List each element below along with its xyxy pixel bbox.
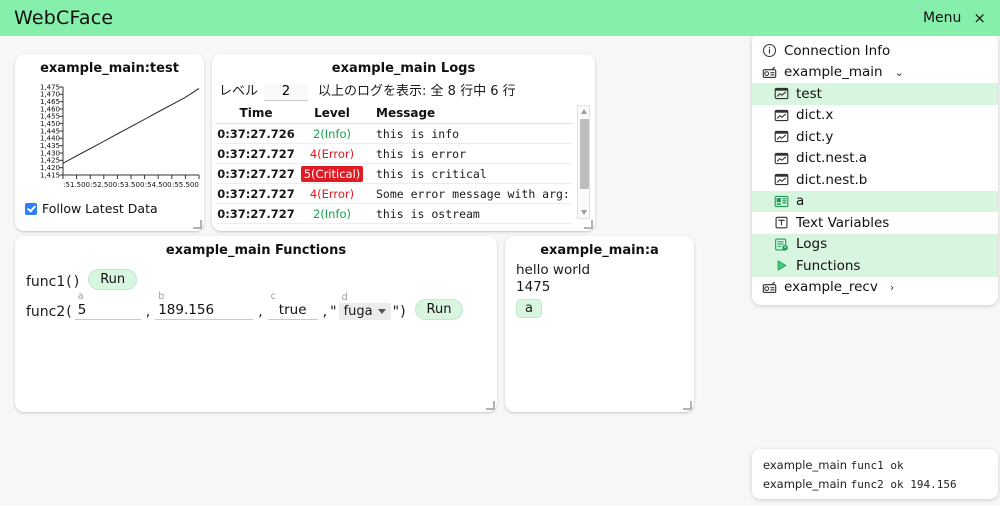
func2-arg-a: a [75, 302, 141, 320]
logs-filter-row: レベル 以上のログを表示: 全 8 行中 6 行 [212, 79, 595, 105]
func2-quote-open: " [330, 304, 336, 320]
svg-text::54.500: :54.500 [145, 181, 172, 189]
log-level-badge: 4(Error) [310, 147, 354, 161]
value-text: hello world [505, 261, 694, 278]
func2-arg-b-input[interactable] [155, 302, 253, 320]
svg-text::55.500: :55.500 [172, 181, 199, 189]
text-icon [774, 215, 789, 230]
sidebar-item-logs[interactable]: Logs [752, 234, 998, 256]
func2-arg-a-input[interactable] [75, 302, 141, 320]
function-row-func1: func1 ( ) Run [15, 269, 497, 290]
logs-icon [774, 237, 789, 252]
svg-text::52.500: :52.500 [90, 181, 117, 189]
func2-arg-b-label: b [158, 291, 164, 302]
sidebar-item-test[interactable]: test [752, 83, 998, 105]
func2-arg-d-label: d [342, 292, 348, 303]
logs-table-row: 0:37:27.7272(Info)this is ostream [215, 204, 572, 224]
sidebar-item-label: Logs [796, 236, 827, 252]
close-icon[interactable]: × [973, 11, 986, 26]
chevron-right-icon[interactable]: › [890, 281, 894, 294]
toast-message: example_main func2 ok 194.156 [763, 475, 987, 494]
follow-latest-data-label: Follow Latest Data [42, 201, 158, 216]
series-test-line [63, 89, 199, 164]
func2-comma-1: , [143, 304, 153, 320]
sidebar-item-dict-nest-b[interactable]: dict.nest.b [752, 169, 998, 191]
func2-close-paren: ) [399, 304, 406, 320]
func2-run-button[interactable]: Run [415, 299, 464, 320]
func2-arg-c: c [268, 302, 318, 320]
sidebar-item-label: example_main [784, 64, 883, 80]
logs-panel-title: example_main Logs [212, 54, 595, 79]
sidebar-item-example-main[interactable]: example_main⌄ [752, 62, 998, 84]
sidebar-item-functions[interactable]: Functions [752, 255, 998, 277]
logs-column-header: Time [215, 105, 297, 124]
log-message: this is critical [376, 167, 487, 181]
chart-icon [774, 108, 789, 123]
log-level-label: レベル [219, 80, 258, 99]
log-level-badge: 2(Info) [313, 207, 351, 221]
log-message: this is info [376, 127, 459, 141]
func2-comma-2: , [255, 304, 265, 320]
sidebar-item-dict-x[interactable]: dict.x [752, 105, 998, 127]
value-badge[interactable]: a [516, 299, 542, 318]
logs-table-body: 0:37:27.7262(Info)this is info0:37:27.72… [215, 124, 572, 224]
sidebar-item-label: dict.x [796, 107, 833, 123]
logs-table: TimeLevelMessage 0:37:27.7262(Info)this … [215, 105, 572, 224]
logs-table-header: TimeLevelMessage [215, 105, 572, 124]
func1-close-paren: ) [73, 274, 80, 290]
toast-body: func2 ok 194.156 [851, 478, 957, 491]
sidebar: Connection Infoexample_main⌄testdict.xdi… [752, 33, 998, 305]
value-number: 1475 [505, 278, 694, 295]
sidebar-item-dict-y[interactable]: dict.y [752, 126, 998, 148]
toast-message: example_main func1 ok [763, 456, 987, 475]
func2-arg-c-input[interactable] [268, 302, 318, 320]
chart-icon [774, 172, 789, 187]
server-icon [762, 65, 777, 80]
sidebar-item-label: dict.nest.b [796, 172, 867, 188]
sidebar-item-label: dict.nest.a [796, 150, 867, 166]
x-axis-ticks: :51.500:52.500:53.500:54.500:55.500 [63, 175, 199, 189]
toast-body: func1 ok [851, 459, 904, 472]
func2-arg-a-label: a [78, 291, 84, 302]
sidebar-item-a[interactable]: a [752, 191, 998, 213]
chevron-down-icon [378, 309, 386, 314]
sidebar-item-example-recv[interactable]: example_recv› [752, 277, 998, 299]
sidebar-item-label: a [796, 193, 804, 209]
logs-table-row: 0:37:27.7274(Error)Some error message wi… [215, 184, 572, 204]
log-message: this is ostream [376, 207, 480, 221]
sidebar-item-dict-nest-a[interactable]: dict.nest.a [752, 148, 998, 170]
log-level-badge: 2(Info) [313, 127, 351, 141]
log-time: 0:37:27.727 [217, 207, 295, 221]
chart-icon [774, 129, 789, 144]
func1-open-paren: ( [65, 274, 72, 290]
scroll-up-icon[interactable] [581, 109, 587, 114]
log-message: Some error message with arg: 1 [376, 187, 584, 201]
log-time: 0:37:27.727 [217, 187, 295, 201]
logs-panel-resize-handle[interactable] [584, 220, 593, 229]
logs-table-row: 0:37:27.7262(Info)this is info [215, 124, 572, 144]
functions-panel: example_main Functions func1 ( ) Run fun… [15, 236, 497, 412]
chevron-down-icon[interactable]: ⌄ [895, 66, 904, 79]
line-chart-svg: 1,4751,4701,4651,4601,4551,4501,4451,440… [15, 79, 204, 197]
sidebar-item-label: test [796, 86, 822, 102]
chart-panel-title: example_main:test [15, 54, 204, 79]
chart-plot-area[interactable]: 1,4751,4701,4651,4601,4551,4501,4451,440… [15, 79, 204, 199]
logs-scrollbar-thumb[interactable] [580, 119, 589, 189]
follow-latest-data-checkbox[interactable] [25, 203, 37, 215]
view-icon [774, 194, 789, 209]
sidebar-item-label: Functions [796, 258, 860, 274]
sidebar-item-label: Connection Info [784, 43, 890, 59]
logs-table-container: TimeLevelMessage 0:37:27.7262(Info)this … [212, 105, 595, 224]
server-icon [762, 280, 777, 295]
scroll-down-icon[interactable] [581, 210, 587, 215]
sidebar-item-label: Text Variables [796, 215, 889, 231]
sidebar-item-connection-info[interactable]: Connection Info [752, 40, 998, 62]
chart-icon [774, 151, 789, 166]
follow-latest-data-row[interactable]: Follow Latest Data [15, 199, 204, 216]
log-time: 0:37:27.726 [217, 127, 295, 141]
functions-panel-title: example_main Functions [15, 236, 497, 261]
sidebar-item-text-variables[interactable]: Text Variables [752, 212, 998, 234]
header-actions: Menu × [923, 10, 986, 26]
logs-table-row: 0:37:27.7275(Critical)this is critical [215, 164, 572, 184]
func2-arg-d: d fuga [339, 303, 391, 320]
func2-comma-3: , [320, 304, 330, 320]
logs-table-row: 0:37:27.7274(Error)this is error [215, 144, 572, 164]
svg-text::53.500: :53.500 [118, 181, 145, 189]
func2-arg-d-select[interactable]: fuga [339, 303, 391, 320]
logs-scrollbar[interactable] [577, 105, 590, 219]
app-title: WebCFace [14, 7, 113, 29]
sidebar-item-label: example_recv [784, 279, 878, 295]
y-axis-ticks: 1,4751,4701,4651,4601,4551,4501,4451,440… [40, 83, 63, 179]
func2-open-paren: ( [65, 304, 72, 320]
notification-toast: example_main func1 okexample_main func2 … [752, 449, 998, 499]
value-panel: example_main:a hello world 1475 a [505, 236, 694, 412]
svg-text::51.500: :51.500 [63, 181, 90, 189]
function-row-func2: func2 ( a , b , c , " d fuga " ) Run [15, 299, 497, 320]
func2-name: func2 [26, 304, 65, 320]
info-circle-icon [762, 43, 777, 58]
value-panel-title: example_main:a [505, 236, 694, 261]
log-time: 0:37:27.727 [217, 147, 295, 161]
log-level-input[interactable] [264, 84, 308, 101]
log-filter-summary: 以上のログを表示: 全 8 行中 6 行 [318, 80, 516, 99]
play-icon [774, 258, 789, 273]
logs-column-header: Message [367, 105, 572, 124]
value-panel-resize-handle[interactable] [683, 401, 692, 410]
menu-button[interactable]: Menu [923, 10, 961, 26]
logs-panel: example_main Logs レベル 以上のログを表示: 全 8 行中 6… [212, 54, 595, 231]
toast-source: example_main [763, 458, 851, 472]
func2-arg-c-label: c [271, 291, 276, 302]
svg-text:1,415: 1,415 [40, 171, 60, 179]
log-level-badge: 5(Critical) [301, 166, 364, 182]
func1-run-button[interactable]: Run [88, 269, 137, 290]
functions-panel-resize-handle[interactable] [486, 401, 495, 410]
chart-panel: example_main:test 1,4751,4701,4651,4601,… [15, 54, 204, 231]
func2-arg-b: b [155, 302, 253, 320]
toast-source: example_main [763, 477, 851, 491]
chart-icon [774, 86, 789, 101]
app-header: WebCFace Menu × [0, 0, 1000, 36]
chart-panel-resize-handle[interactable] [193, 220, 202, 229]
logs-column-header: Level [297, 105, 367, 124]
log-time: 0:37:27.727 [217, 167, 295, 181]
sidebar-item-label: dict.y [796, 129, 833, 145]
log-level-badge: 4(Error) [310, 187, 354, 201]
log-message: this is error [376, 147, 466, 161]
func2-arg-d-value: fuga [344, 304, 373, 319]
func1-name: func1 [26, 274, 65, 290]
